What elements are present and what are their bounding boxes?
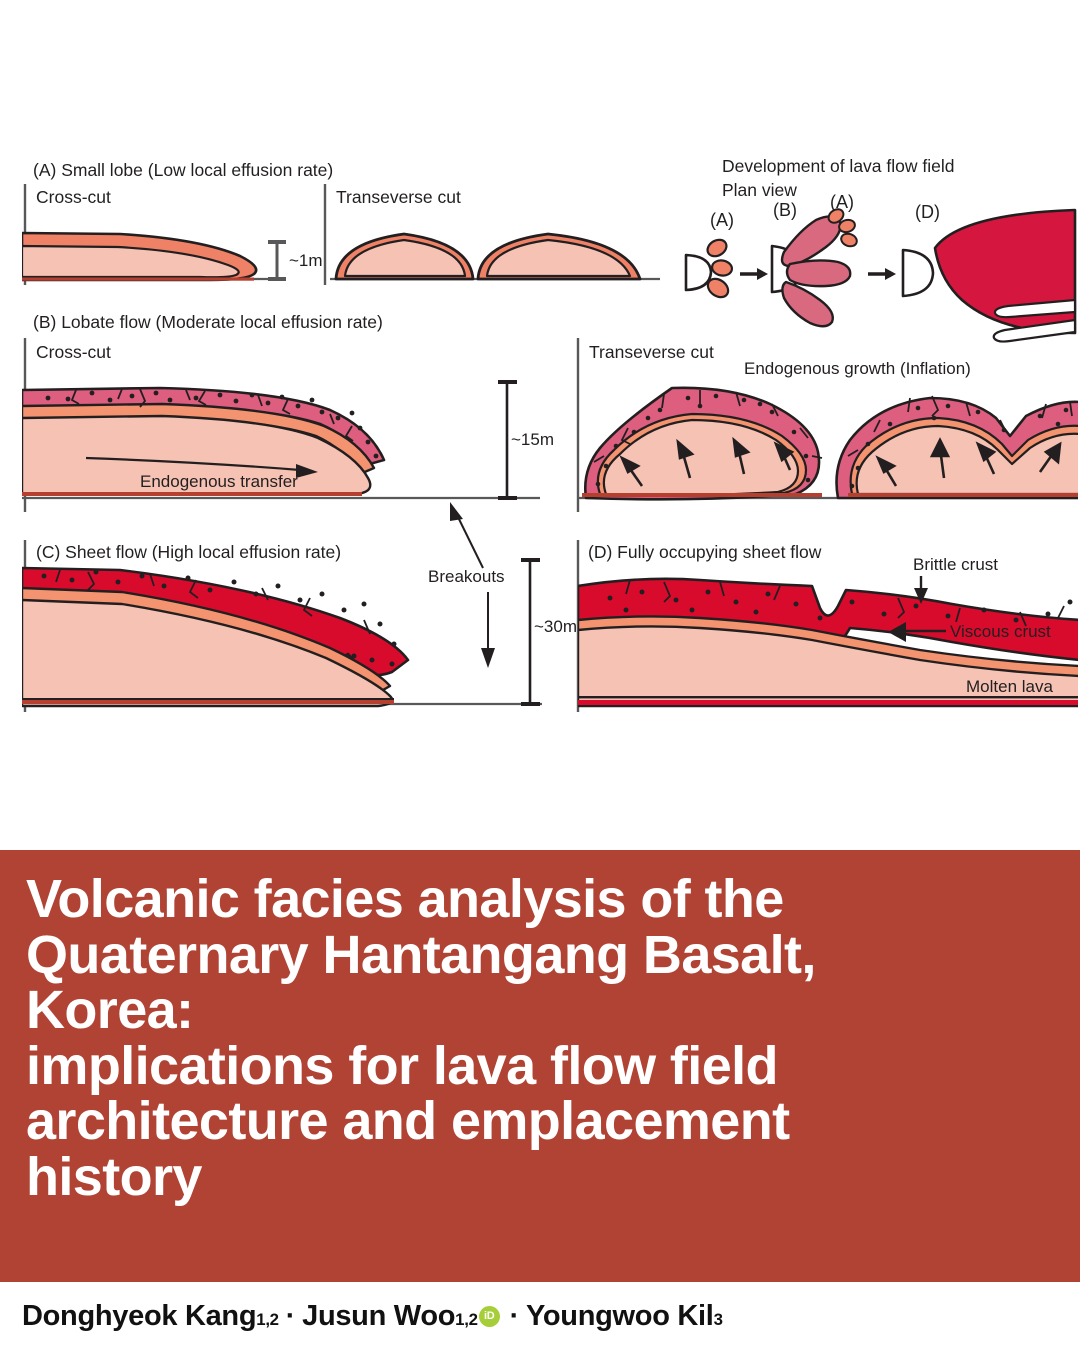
author-name-3: Youngwoo Kil [526,1300,714,1333]
title-line-4: implications for lava flow field [26,1039,1054,1095]
plan-arrow-1 [740,268,768,280]
plan-stage-label-b: (B) [773,200,797,220]
panel-a-crosscut-label: Cross-cut [36,187,111,207]
panel-a-crosscut-drawing [22,233,268,281]
lava-flow-figure: (A) Small lobe (Low local effusion rate)… [0,0,1080,850]
panel-c-drawing [22,568,545,706]
panel-b-scale: ~15m [498,382,554,498]
orcid-icon[interactable] [479,1306,500,1327]
panel-c-title: (C) Sheet flow (High local effusion rate… [36,542,341,562]
author-separator-1: · [286,1300,295,1333]
author-name-1: Donghyeok Kang [22,1300,256,1333]
panel-a-title: (A) Small lobe (Low local effusion rate) [33,160,333,180]
author-separator-2: · [510,1300,519,1333]
panel-d-title: (D) Fully occupying sheet flow [588,542,822,562]
panel-b-scale-label: ~15m [511,430,554,449]
panel-a-scale-label: ~1m [289,251,323,270]
page-title: Volcanic facies analysis of the Quaterna… [26,872,1054,1206]
molten-lava-label: Molten lava [966,677,1053,696]
panel-b-crosscut-label: Cross-cut [36,342,111,362]
author-block: Donghyeok Kang1,2 · Jusun Woo1,2 · Young… [0,1282,1080,1350]
title-line-3: Korea: [26,983,1054,1039]
plan-stage-label-a1: (A) [710,210,734,230]
plan-stage-3 [903,210,1075,342]
panel-c-scale-label: ~30m [534,617,577,636]
endogenous-growth-label: Endogenous growth (Inflation) [744,359,971,378]
title-line-2: Quaternary Hantangang Basalt, [26,928,1054,984]
plan-stage-1 [686,237,733,301]
breakouts-arrow-up [450,502,483,568]
title-line-6: history [26,1150,1054,1206]
author-list: Donghyeok Kang1,2 · Jusun Woo1,2 · Young… [22,1300,723,1333]
breakouts-label: Breakouts [428,567,505,586]
plan-view-subheading: Plan view [722,180,797,200]
author-affil-3: 3 [714,1310,723,1330]
brittle-crust-label: Brittle crust [913,555,998,574]
plan-stage-label-d: (D) [915,202,940,222]
panel-a-transverse-label: Transeverse cut [336,187,461,207]
plan-arrow-2 [868,268,896,280]
plan-view-heading: Development of lava flow field [722,156,954,176]
title-banner: Volcanic facies analysis of the Quaterna… [0,850,1080,1282]
author-affil-1: 1,2 [256,1310,278,1330]
panel-a-transverse-drawing [330,234,660,279]
panel-b-title: (B) Lobate flow (Moderate local effusion… [33,312,383,332]
panel-b-inflation-drawing [578,388,1080,500]
panel-c-scale: ~30m [521,560,577,704]
author-name-2: Jusun Woo [302,1300,455,1333]
panel-b-transverse-label: Transeverse cut [589,342,714,362]
title-line-5: architecture and emplacement [26,1094,1054,1150]
poster-page: (A) Small lobe (Low local effusion rate)… [0,0,1080,1350]
viscous-crust-label: Viscous crust [950,622,1051,641]
plan-stage-2 [772,206,859,326]
plan-stage-label-a2: (A) [830,192,854,212]
title-line-1: Volcanic facies analysis of the [26,872,1054,928]
author-affil-2: 1,2 [455,1310,477,1330]
breakouts-arrow-down [481,592,495,668]
panel-a-scale: ~1m [268,242,323,279]
endogenous-transfer-label: Endogenous transfer [140,472,298,491]
